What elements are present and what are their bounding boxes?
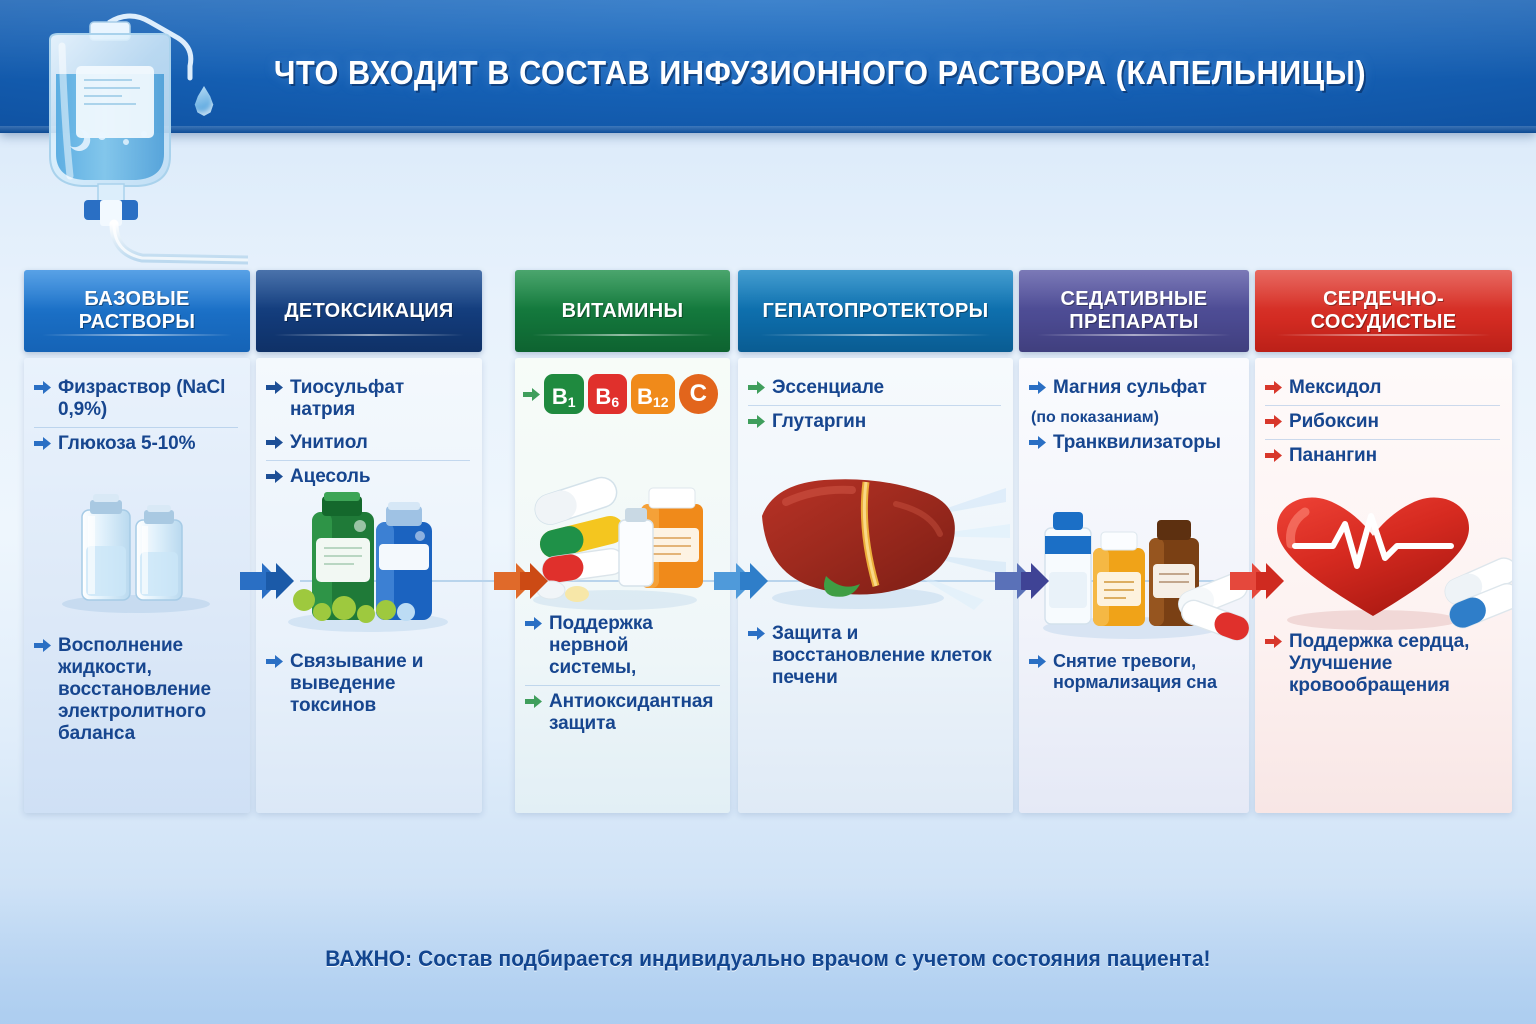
list-item[interactable]: Транквилизаторы [1029, 427, 1237, 460]
category-card-hepatoprotectors[interactable]: ГЕПАТОПРОТЕКТОРЫ Эссенциале Глутаргин [738, 270, 1013, 813]
arrow-bullet-icon [748, 380, 765, 395]
category-body-base-solutions: Физраствор (NaCl 0,9%) Глюкоза 5-10% [24, 358, 250, 813]
iv-drip-bag-icon [18, 8, 248, 278]
list-item[interactable]: Эссенциале [748, 372, 1001, 405]
benefit-block: Снятие тревоги, нормализация сна [1029, 646, 1239, 699]
arrow-bullet-icon [525, 694, 542, 709]
page-title: ЧТО ВХОДИТ В СОСТАВ ИНФУЗИОННОГО РАСТВОР… [234, 54, 1406, 92]
category-header-sedatives: СЕДАТИВНЫЕ ПРЕПАРАТЫ [1019, 270, 1249, 352]
ingredient-list: Тиосульфат натрия Унитиол Ацесоль [266, 372, 470, 494]
ingredient-label: Унитиол [290, 432, 368, 454]
benefit-label: Поддержка нервной системы, [549, 613, 720, 679]
vitamin-badge-row: B1 B6 B12 C [523, 372, 718, 414]
list-item[interactable]: Ацесоль [266, 460, 470, 494]
vitamin-badge-b12[interactable]: B12 [631, 374, 674, 414]
liver-icon [738, 458, 1013, 623]
vitamin-badge-letter: B [637, 384, 653, 410]
arrow-bullet-icon [266, 435, 283, 450]
flow-arrow-detox-to-vitamins [494, 560, 554, 602]
ingredient-list: Физраствор (NaCl 0,9%) Глюкоза 5-10% [34, 372, 238, 461]
benefit-item: Восполнение жидкости, восстановление эле… [34, 630, 240, 751]
benefit-item: Поддержка сердца, Улучшение кровообращен… [1265, 626, 1502, 703]
ingredient-list: Магния сульфат (по показаниам) Транквили… [1029, 372, 1237, 460]
vitamin-badge-sub: 1 [568, 394, 576, 410]
vitamin-badge-b1[interactable]: B1 [544, 374, 584, 414]
vitamin-badge-letter: C [690, 380, 707, 408]
arrow-bullet-icon [1029, 435, 1046, 450]
flow-arrow-vitamins-to-hepatoprotectors [714, 560, 774, 602]
arrow-bullet-icon [1029, 380, 1046, 395]
benefit-item: Снятие тревоги, нормализация сна [1029, 646, 1239, 699]
category-header-base-solutions: БАЗОВЫЕ РАСТВОРЫ [24, 270, 250, 352]
arrow-bullet-icon [748, 626, 765, 641]
category-header-detox: ДЕТОКСИКАЦИЯ [256, 270, 482, 352]
list-item[interactable]: Унитиол [266, 427, 470, 460]
vitamin-badge-c[interactable]: C [679, 374, 719, 414]
header-sheen [256, 270, 482, 309]
ingredient-label: Тиосульфат натрия [290, 377, 470, 421]
benefit-item: Антиоксидантная защита [525, 685, 720, 741]
category-card-vitamins[interactable]: ВИТАМИНЫ B1 B6 B12 C [515, 270, 730, 813]
vitamin-badge-letter: B [552, 384, 568, 410]
category-body-cardiovascular: Мексидол Рибоксин Панангин [1255, 358, 1512, 813]
category-card-cardiovascular[interactable]: СЕРДЕЧНО-СОСУДИСТЫЕ Мексидол Рибоксин [1255, 270, 1512, 813]
vitamin-badge-sub: 6 [611, 394, 619, 410]
footer: ВАЖНО: Состав подбирается индивидуально … [0, 946, 1536, 972]
category-header-cardiovascular: СЕРДЕЧНО-СОСУДИСТЫЕ [1255, 270, 1512, 352]
category-body-hepatoprotectors: Эссенциале Глутаргин [738, 358, 1013, 813]
header-sheen [24, 270, 250, 309]
arrow-bullet-icon [523, 387, 540, 402]
benefit-label: Антиоксидантная защита [549, 691, 720, 735]
list-item[interactable]: Тиосульфат натрия [266, 372, 470, 427]
benefit-label: Связывание и выведение токсинов [290, 651, 472, 717]
benefit-block: Связывание и выведение токсинов [266, 646, 472, 723]
list-item[interactable]: Рибоксин [1265, 405, 1500, 439]
benefit-block: Восполнение жидкости, восстановление эле… [34, 630, 240, 751]
ingredient-label: Магния сульфат [1053, 377, 1207, 399]
ingredient-label: Физраствор (NaCl 0,9%) [58, 377, 238, 421]
ingredient-label: Эссенциале [772, 377, 884, 399]
arrow-bullet-icon [1265, 414, 1282, 429]
arrow-bullet-icon [1029, 654, 1046, 669]
flow-arrow-sedatives-to-cardiovascular [1230, 560, 1290, 602]
arrow-bullet-icon [1265, 634, 1282, 649]
list-item[interactable]: Мексидол [1265, 372, 1500, 405]
benefit-block: Защита и восстановление клеток печени [748, 618, 1003, 695]
arrow-bullet-icon [34, 436, 51, 451]
list-item[interactable]: Глюкоза 5-10% [34, 427, 238, 461]
arrow-bullet-icon [266, 469, 283, 484]
header-sheen [515, 270, 730, 309]
flow-arrow-hepatoprotectors-to-sedatives [995, 560, 1055, 602]
benefit-block: Поддержка нервной системы, Антиоксидантн… [525, 608, 720, 741]
vitamin-badge-letter: B [595, 384, 611, 410]
ingredient-label: Глюкоза 5-10% [58, 433, 195, 455]
ingredient-label: Панангин [1289, 445, 1377, 467]
category-card-sedatives[interactable]: СЕДАТИВНЫЕ ПРЕПАРАТЫ Магния сульфат (по … [1019, 270, 1249, 813]
saline-vials-icon [24, 476, 250, 621]
header-sheen [1255, 270, 1512, 309]
category-card-base-solutions[interactable]: БАЗОВЫЕ РАСТВОРЫ Физраствор (NaCl 0,9%) … [24, 270, 250, 813]
arrow-bullet-icon [34, 638, 51, 653]
category-header-vitamins: ВИТАМИНЫ [515, 270, 730, 352]
benefit-item: Связывание и выведение токсинов [266, 646, 472, 723]
benefit-block: Поддержка сердца, Улучшение кровообращен… [1265, 626, 1502, 703]
flow-arrow-base-to-detox [240, 560, 300, 602]
header-sheen [738, 270, 1013, 309]
vitamin-badge-sub: 12 [653, 394, 669, 410]
ingredient-note: (по показаниам) [1029, 405, 1237, 427]
ingredient-label: Глутаргин [772, 411, 866, 433]
vitamin-badge-b6[interactable]: B6 [588, 374, 628, 414]
heart-ecg-icon [1255, 490, 1512, 645]
benefit-item: Защита и восстановление клеток печени [748, 618, 1003, 695]
arrow-bullet-icon [1265, 380, 1282, 395]
ingredient-label: Ацесоль [290, 466, 370, 488]
category-header-hepatoprotectors: ГЕПАТОПРОТЕКТОРЫ [738, 270, 1013, 352]
list-item[interactable]: Магния сульфат [1029, 372, 1237, 405]
category-card-detox[interactable]: ДЕТОКСИКАЦИЯ Тиосульфат натрия Унитиол [256, 270, 482, 813]
ingredient-list: Мексидол Рибоксин Панангин [1265, 372, 1500, 473]
benefit-label: Восполнение жидкости, восстановление эле… [58, 635, 240, 745]
benefit-label: Защита и восстановление клеток печени [772, 623, 1003, 689]
arrow-bullet-icon [34, 380, 51, 395]
ingredient-list: Эссенциале Глутаргин [748, 372, 1001, 439]
benefit-label: Снятие тревоги, нормализация сна [1053, 651, 1239, 693]
list-item[interactable]: Физраствор (NaCl 0,9%) [34, 372, 238, 427]
arrow-bullet-icon [748, 414, 765, 429]
categories-row: БАЗОВЫЕ РАСТВОРЫ Физраствор (NaCl 0,9%) … [0, 270, 1536, 820]
list-item[interactable]: Глутаргин [748, 405, 1001, 439]
ingredient-label: Мексидол [1289, 377, 1381, 399]
ingredient-label: Рибоксин [1289, 411, 1379, 433]
arrow-bullet-icon [525, 616, 542, 631]
arrow-bullet-icon [1265, 448, 1282, 463]
arrow-bullet-icon [266, 654, 283, 669]
arrow-bullet-icon [266, 380, 283, 395]
benefit-label: Поддержка сердца, Улучшение кровообращен… [1289, 631, 1502, 697]
footer-note: ВАЖНО: Состав подбирается индивидуально … [325, 946, 1210, 972]
header-sheen [1019, 270, 1249, 309]
list-item[interactable]: Панангин [1265, 439, 1500, 473]
benefit-item: Поддержка нервной системы, [525, 608, 720, 685]
ingredient-label: Транквилизаторы [1053, 432, 1221, 454]
